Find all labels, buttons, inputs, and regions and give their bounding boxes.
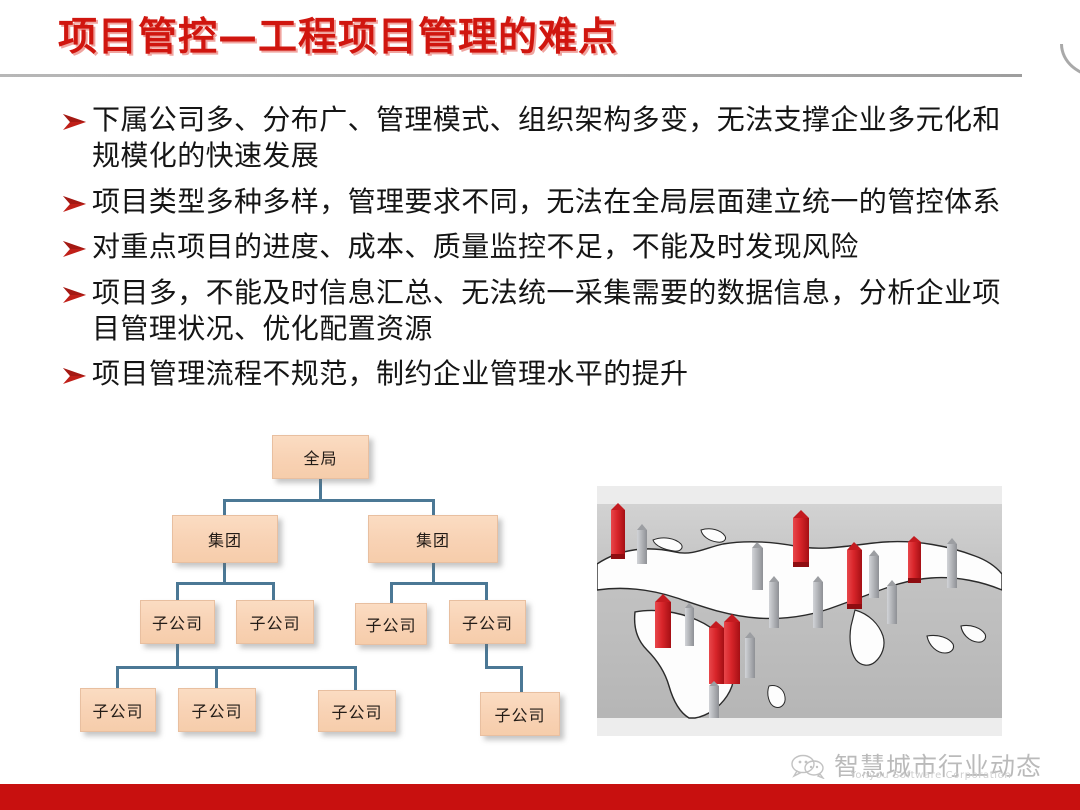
org-node-label: 全局 — [303, 445, 337, 469]
world-map-image — [597, 486, 1002, 736]
org-node-label: 子公司 — [331, 699, 382, 723]
tower-gray — [887, 580, 897, 624]
org-node-label: 集团 — [208, 527, 242, 551]
org-connector — [116, 666, 357, 669]
world-map-svg — [597, 486, 1002, 736]
tower-red — [908, 536, 921, 583]
org-node-sub-3[interactable]: 子公司 — [355, 603, 427, 645]
tower-red — [793, 510, 809, 567]
tower-gray — [637, 524, 647, 564]
org-node-sub-1[interactable]: 子公司 — [140, 600, 215, 644]
org-node-sub-4[interactable]: 子公司 — [449, 600, 526, 644]
bullet-text: 项目类型多种多样，管理要求不同，无法在全局层面建立统一的管控体系 — [92, 184, 1012, 220]
org-connector — [485, 582, 488, 602]
watermark-en-text: Yonyou Software Corporation — [850, 770, 1011, 781]
tower-gray — [709, 681, 719, 718]
org-connector — [354, 666, 357, 692]
bullet-text: 对重点项目的进度、成本、质量监控不足，不能及时发现风险 — [92, 229, 1012, 265]
red-arrow-bullet-icon — [62, 184, 92, 214]
org-connector — [223, 563, 226, 584]
org-connector — [223, 499, 435, 502]
list-item: 项目管理流程不规范，制约企业管理水平的提升 — [62, 356, 1012, 392]
org-node-sub-8[interactable]: 子公司 — [480, 692, 560, 736]
watermark-textbox: 智慧城市行业动态 Yonyou Software Corporation — [834, 754, 1070, 779]
org-connector — [432, 563, 435, 584]
org-node-label: 子公司 — [191, 698, 242, 722]
org-connector — [390, 582, 488, 585]
org-connector — [176, 582, 179, 602]
tower-gray — [869, 550, 879, 598]
tower-gray — [685, 603, 694, 646]
tower-gray — [813, 576, 823, 628]
list-item: 下属公司多、分布广、管理模式、组织架构多变，无法支撑企业多元化和规模化的快速发展 — [62, 102, 1012, 175]
org-node-group-2[interactable]: 集团 — [368, 515, 498, 563]
header-divider-curve — [1060, 44, 1080, 78]
org-node-label: 子公司 — [494, 702, 545, 726]
org-connector — [520, 666, 523, 694]
red-arrow-bullet-icon — [62, 229, 92, 259]
tower-gray — [745, 632, 755, 678]
wechat-icon — [790, 753, 826, 779]
red-arrow-bullet-icon — [62, 102, 92, 132]
tower-gray — [769, 576, 779, 628]
footer-accent-bar — [0, 784, 1080, 810]
org-node-label: 子公司 — [365, 612, 416, 636]
bullet-text: 项目管理流程不规范，制约企业管理水平的提升 — [92, 356, 1012, 392]
red-arrow-bullet-icon — [62, 275, 92, 305]
org-node-label: 集团 — [416, 527, 450, 551]
org-connector — [176, 582, 275, 585]
org-connector — [390, 582, 393, 604]
slide-canvas: 项目管控—工程项目管理的难点 下属公司多、分布广、管理模式、组织架构多变，无法支… — [0, 0, 1080, 810]
tower-red — [709, 614, 740, 684]
org-node-sub-5[interactable]: 子公司 — [80, 688, 156, 732]
watermark: 智慧城市行业动态 Yonyou Software Corporation — [790, 744, 1070, 788]
org-node-label: 子公司 — [462, 610, 513, 634]
bullet-text: 下属公司多、分布广、管理模式、组织架构多变，无法支撑企业多元化和规模化的快速发展 — [92, 102, 1012, 175]
page-title: 项目管控—工程项目管理的难点 — [58, 18, 618, 57]
org-connector — [319, 479, 322, 501]
org-node-label: 子公司 — [92, 698, 143, 722]
tower-red — [655, 594, 671, 648]
org-connector — [485, 644, 488, 668]
org-connector — [215, 666, 218, 690]
org-node-group-1[interactable]: 集团 — [172, 515, 278, 563]
tower-red — [611, 503, 625, 559]
list-item: 项目类型多种多样，管理要求不同，无法在全局层面建立统一的管控体系 — [62, 184, 1012, 220]
org-node-sub-7[interactable]: 子公司 — [318, 690, 396, 732]
red-arrow-bullet-icon — [62, 356, 92, 386]
bullet-text: 项目多，不能及时信息汇总、无法统一采集需要的数据信息，分析企业项目管理状况、优化… — [92, 275, 1012, 348]
tower-red — [847, 542, 862, 609]
org-chart-diagram: 全局 集团 集团 子公司 子公司 子公司 子公司 子公司 子公司 子公司 — [0, 420, 580, 750]
org-connector — [485, 666, 523, 669]
org-node-label: 子公司 — [152, 610, 203, 634]
tower-gray — [947, 538, 957, 588]
org-connector — [116, 666, 119, 690]
org-node-label: 子公司 — [249, 610, 300, 634]
header-divider — [0, 74, 1022, 77]
org-connector — [272, 582, 275, 602]
list-item: 项目多，不能及时信息汇总、无法统一采集需要的数据信息，分析企业项目管理状况、优化… — [62, 275, 1012, 348]
org-node-root[interactable]: 全局 — [272, 435, 369, 479]
org-connector — [176, 644, 179, 668]
tower-gray — [752, 542, 763, 590]
org-node-sub-2[interactable]: 子公司 — [236, 600, 314, 644]
bullet-list: 下属公司多、分布广、管理模式、组织架构多变，无法支撑企业多元化和规模化的快速发展… — [62, 102, 1012, 402]
list-item: 对重点项目的进度、成本、质量监控不足，不能及时发现风险 — [62, 229, 1012, 265]
org-node-sub-6[interactable]: 子公司 — [178, 688, 256, 732]
